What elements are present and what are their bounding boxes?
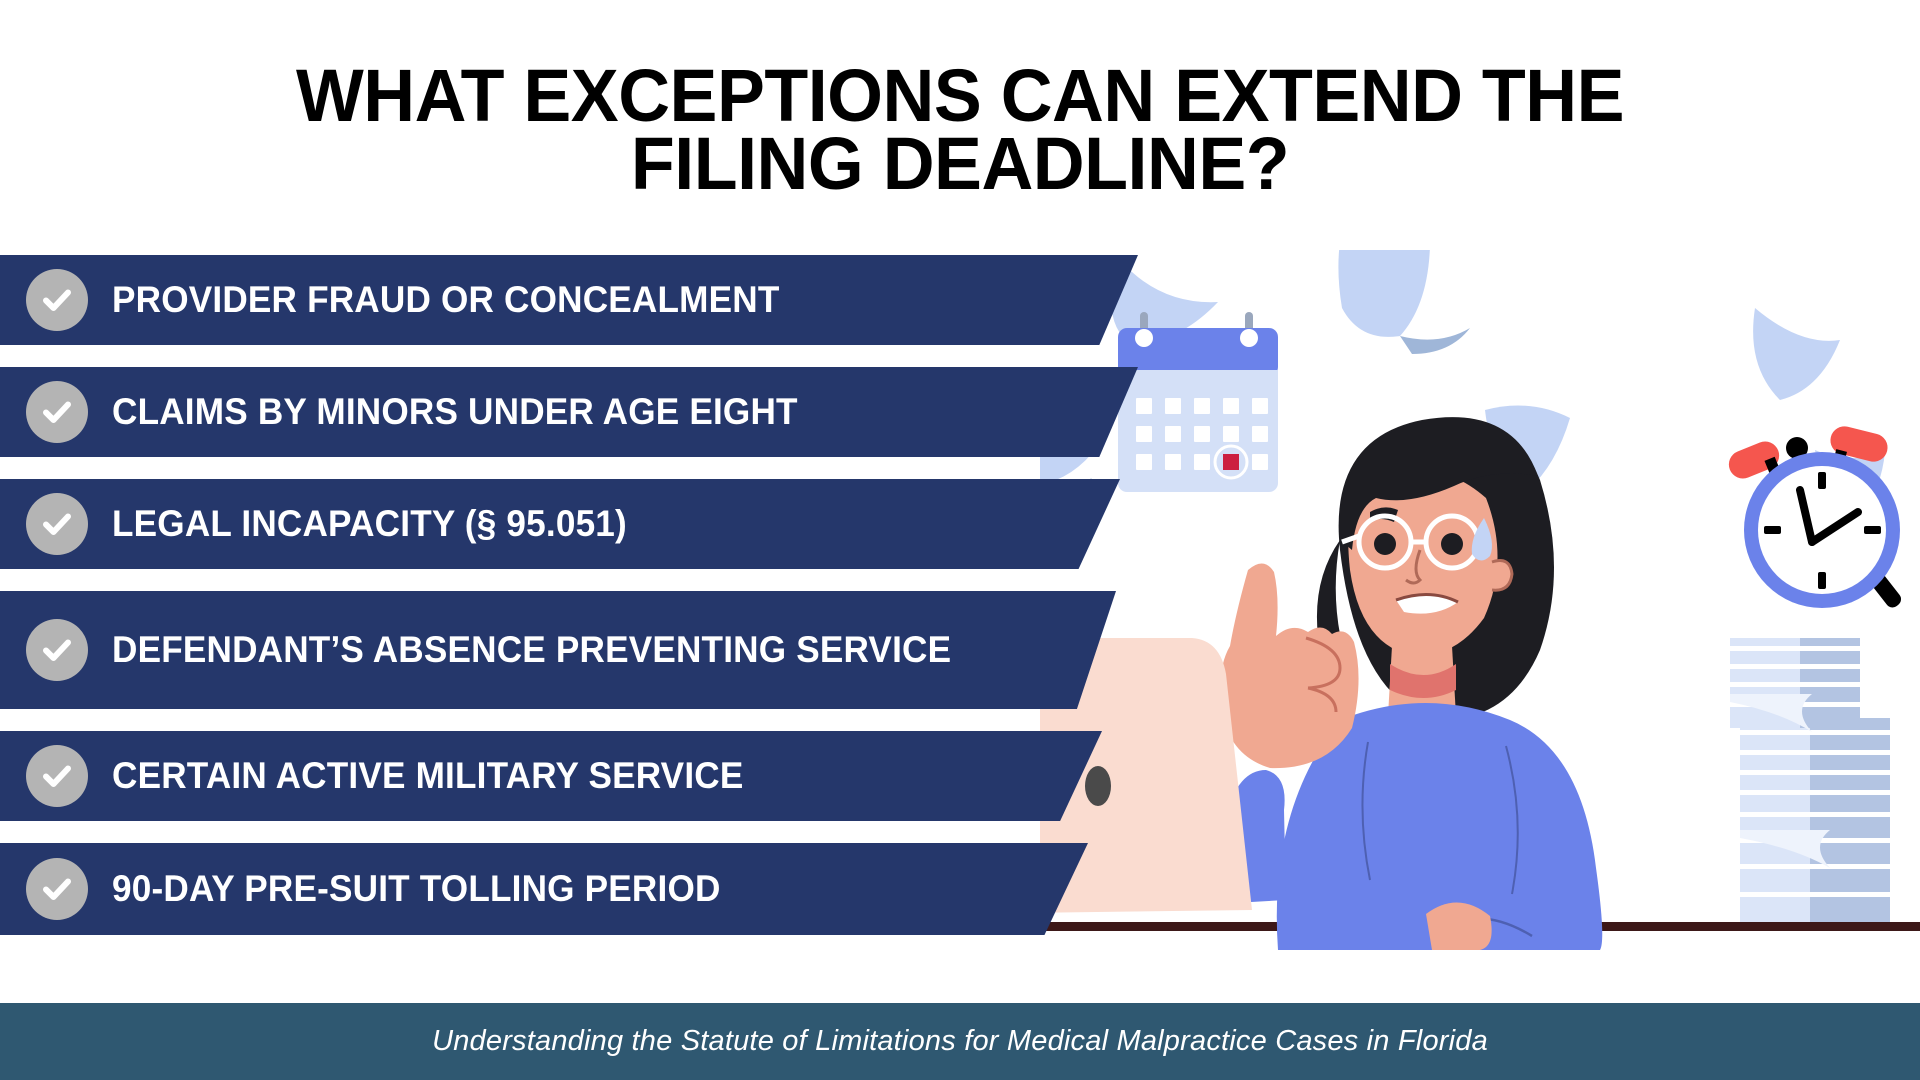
check-circle-icon	[26, 745, 88, 807]
infographic-canvas: WHAT EXCEPTIONS CAN EXTEND THE FILING DE…	[0, 0, 1920, 1080]
footer-caption-text: Understanding the Statute of Limitations…	[432, 1025, 1488, 1058]
list-item-label: CERTAIN ACTIVE MILITARY SERVICE	[112, 756, 743, 795]
check-circle-icon	[26, 493, 88, 555]
list-item-label: 90-DAY PRE-SUIT TOLLING PERIOD	[112, 869, 721, 908]
list-item[interactable]: CERTAIN ACTIVE MILITARY SERVICE	[0, 731, 1102, 821]
list-item[interactable]: DEFENDANT’S ABSENCE PREVENTING SERVICE	[0, 591, 1116, 709]
list-item[interactable]: LEGAL INCAPACITY (§ 95.051)	[0, 479, 1120, 569]
list-item-label: DEFENDANT’S ABSENCE PREVENTING SERVICE	[112, 630, 951, 669]
check-circle-icon	[26, 381, 88, 443]
check-circle-icon	[26, 858, 88, 920]
exceptions-list: PROVIDER FRAUD OR CONCEALMENT CLAIMS BY …	[0, 255, 1270, 957]
list-item[interactable]: 90-DAY PRE-SUIT TOLLING PERIOD	[0, 843, 1088, 935]
list-item[interactable]: CLAIMS BY MINORS UNDER AGE EIGHT	[0, 367, 1138, 457]
check-circle-icon	[26, 619, 88, 681]
woman-illustration	[1216, 417, 1602, 950]
footer-caption-bar: Understanding the Statute of Limitations…	[0, 1003, 1920, 1080]
page-title: WHAT EXCEPTIONS CAN EXTEND THE FILING DE…	[29, 62, 1891, 198]
alarm-clock-icon	[1725, 423, 1904, 610]
list-item[interactable]: PROVIDER FRAUD OR CONCEALMENT	[0, 255, 1138, 345]
list-item-label: PROVIDER FRAUD OR CONCEALMENT	[112, 280, 780, 319]
paper-stack-icon	[1730, 638, 1890, 922]
list-item-label: CLAIMS BY MINORS UNDER AGE EIGHT	[112, 392, 798, 431]
list-item-label: LEGAL INCAPACITY (§ 95.051)	[112, 504, 627, 543]
check-circle-icon	[26, 269, 88, 331]
